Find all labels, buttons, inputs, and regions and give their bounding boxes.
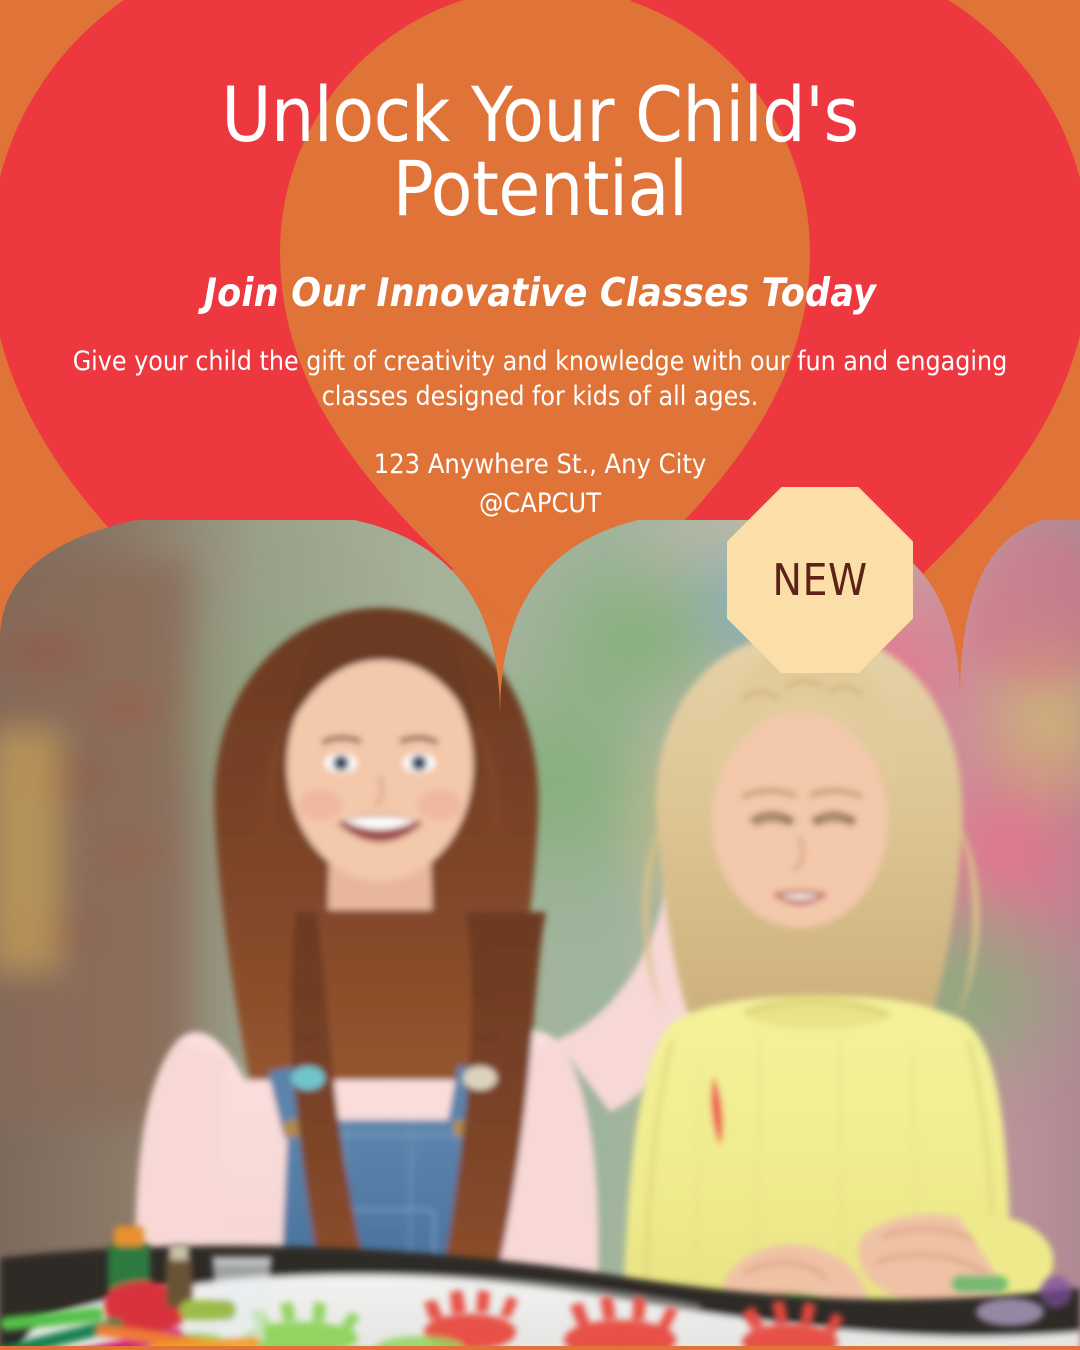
address-line: 123 Anywhere St., Any City — [70, 446, 1010, 484]
poster-canvas: Unlock Your Child's Potential Join Our I… — [0, 0, 1080, 1350]
poster-text-block: Unlock Your Child's Potential Join Our I… — [0, 0, 1080, 523]
body-copy: Give your child the gift of creativity a… — [0, 316, 1080, 414]
status-badge[interactable]: NEW — [727, 487, 913, 673]
badge-label: NEW — [772, 555, 867, 606]
bottom-accent-strip — [0, 1346, 1080, 1350]
subheading: Join Our Innovative Classes Today — [0, 227, 1080, 316]
hero-photo — [0, 520, 1080, 1350]
contact-details: 123 Anywhere St., Any City @CAPCUT — [0, 414, 1080, 523]
page-title: Unlock Your Child's Potential — [0, 0, 1080, 227]
